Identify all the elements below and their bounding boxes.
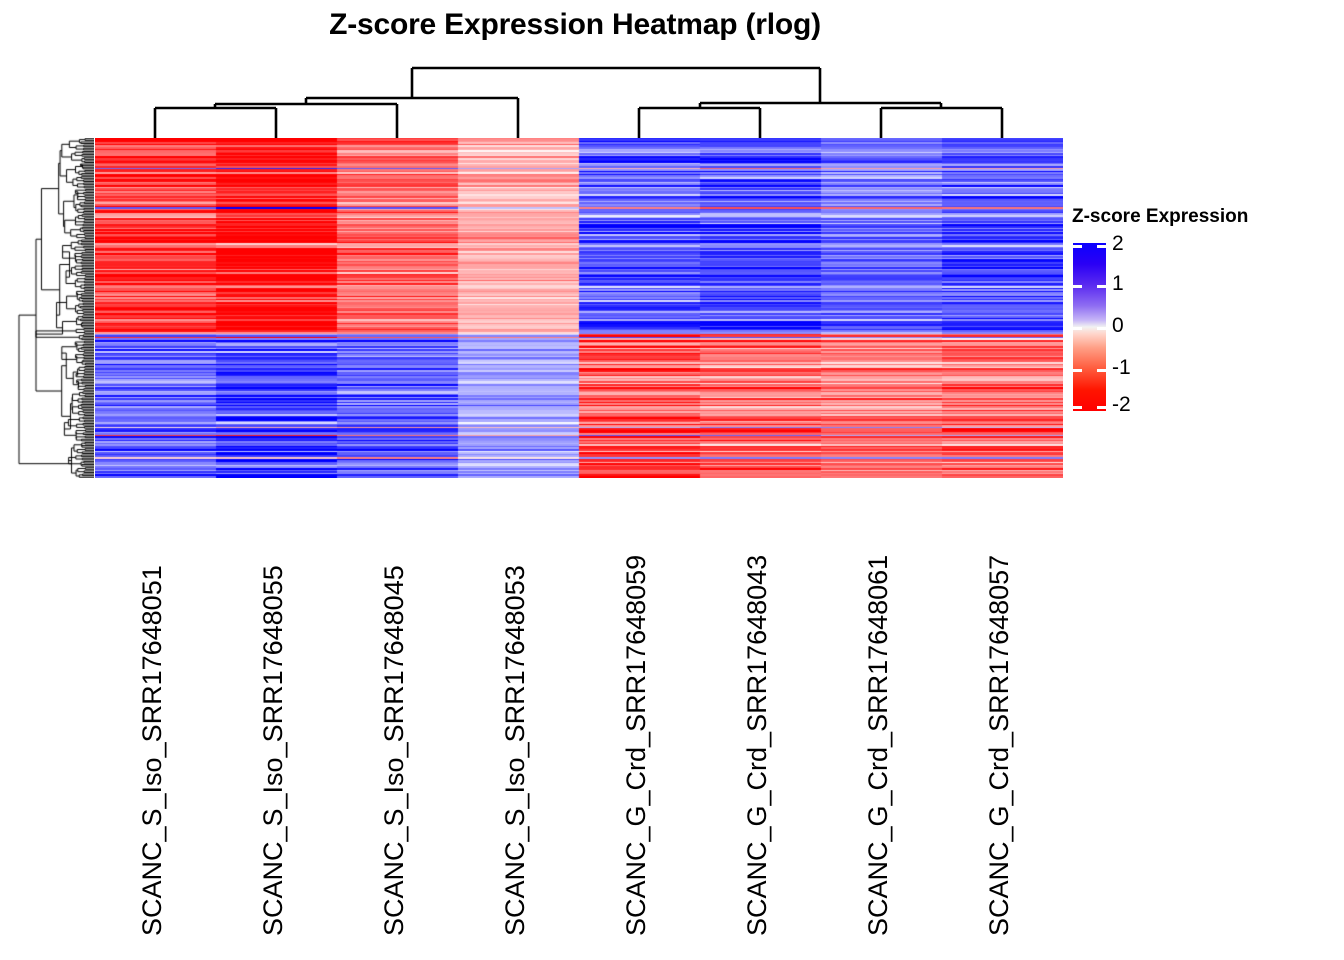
heatmap-matrix	[95, 138, 1063, 478]
column-label: SCANC_G_Crd_SRR17648043	[742, 555, 773, 936]
colorbar-tick	[1097, 406, 1106, 409]
colorbar-tick	[1073, 327, 1082, 330]
colorbar-tick	[1073, 285, 1082, 288]
column-label: SCANC_S_Iso_SRR17648045	[379, 565, 410, 936]
column-label: SCANC_S_Iso_SRR17648051	[137, 565, 168, 936]
column-label: SCANC_G_Crd_SRR17648057	[984, 555, 1015, 936]
column-label: SCANC_G_Crd_SRR17648059	[621, 555, 652, 936]
colorbar-label: 1	[1112, 273, 1124, 294]
colorbar-tick	[1097, 369, 1106, 372]
colorbar-tick	[1073, 245, 1082, 248]
column-dendrogram	[0, 0, 1344, 145]
colorbar-tick	[1073, 369, 1082, 372]
column-label: SCANC_S_Iso_SRR17648053	[500, 565, 531, 936]
colorbar-tick	[1097, 285, 1106, 288]
colorbar-label: 0	[1112, 315, 1124, 336]
colorbar-label: -1	[1112, 357, 1131, 378]
colorbar-tick	[1097, 327, 1106, 330]
colorbar-label: 2	[1112, 233, 1124, 254]
colorbar-tick	[1097, 245, 1106, 248]
heatmap-figure: Z-score Expression Heatmap (rlog)	[0, 0, 1344, 960]
column-label: SCANC_S_Iso_SRR17648055	[258, 565, 289, 936]
legend-title: Z-score Expression	[1072, 206, 1248, 228]
colorbar-tick	[1073, 406, 1082, 409]
row-dendrogram	[16, 138, 94, 478]
colorbar-label: -2	[1112, 394, 1131, 415]
column-label: SCANC_G_Crd_SRR17648061	[863, 555, 894, 936]
